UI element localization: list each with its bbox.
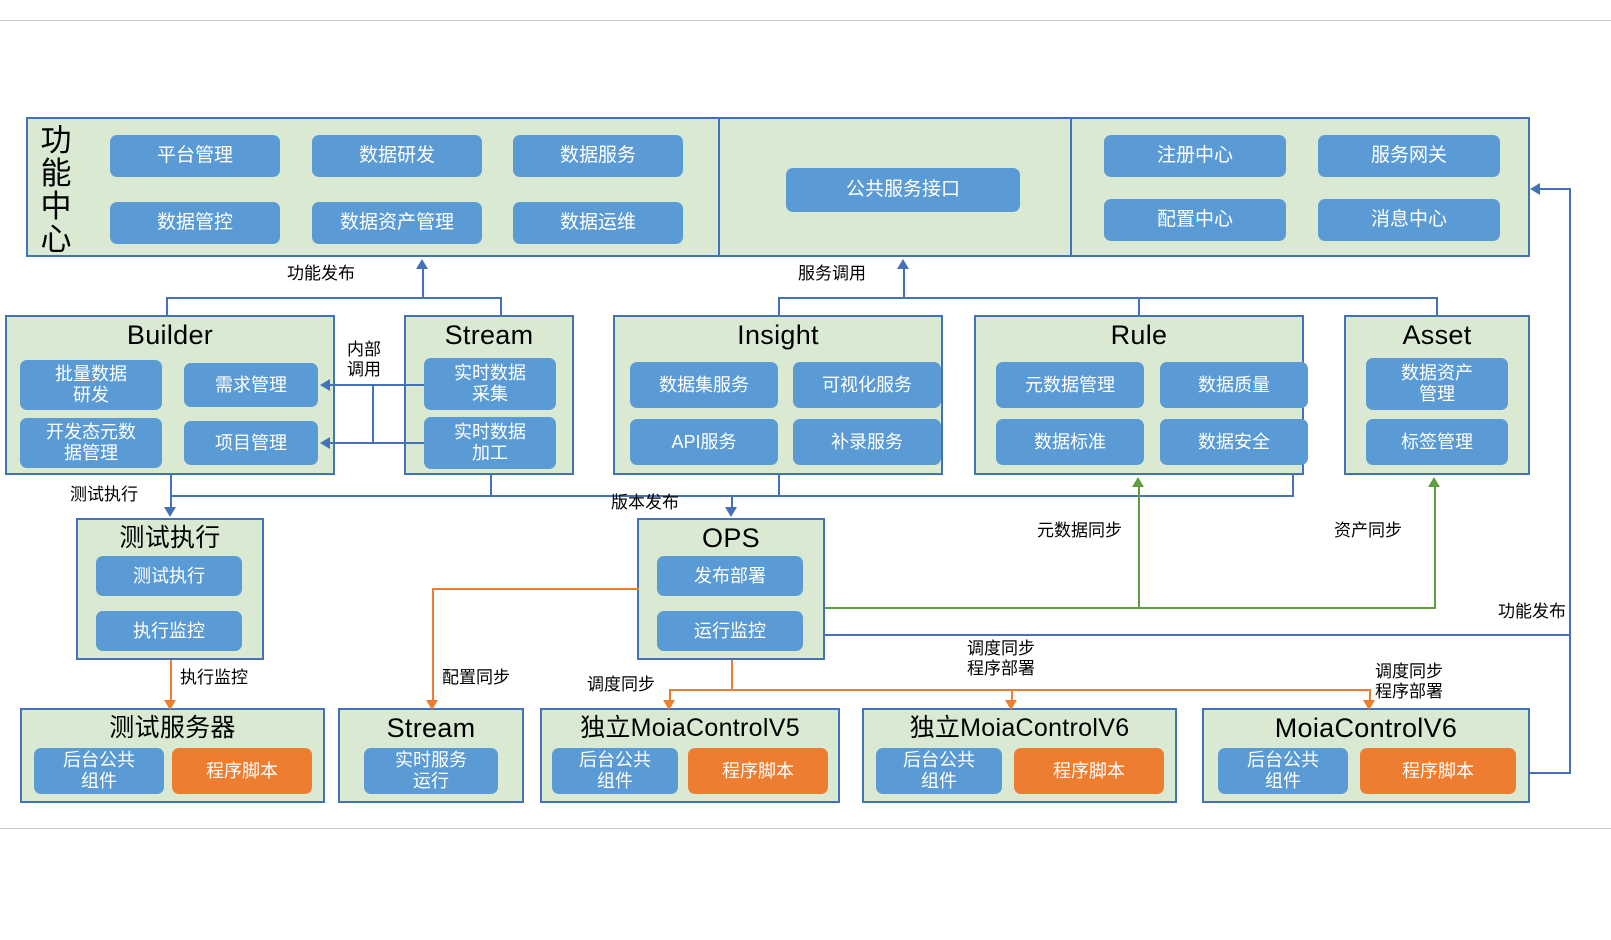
riser-rule [1138,297,1140,315]
drop-rule [1292,475,1294,495]
riser-insight [778,297,780,315]
chip-backend-common-component-3[interactable]: 后台公共 组件 [876,748,1002,794]
internal-call-bottom [330,442,424,444]
group-title-standalone-moiacontrolv6: 独立MoiaControlV6 [864,713,1175,743]
internal-call-from-stream [372,384,424,386]
right-loop-lower-riser [1569,634,1571,772]
chip-tag-management[interactable]: 标签管理 [1366,419,1508,465]
label-schedule-sync: 调度同步 [587,675,655,695]
drop-builder [170,475,172,495]
right-loop-riser [1569,188,1571,634]
orange-ops-drop [731,660,733,689]
label-asset-sync: 资产同步 [1334,521,1402,541]
label-service-call: 服务调用 [798,264,866,284]
chip-runtime-monitor[interactable]: 运行监控 [657,611,803,651]
right-loop-lower-tap [1530,772,1571,774]
orange-config-bus [432,588,639,590]
chip-dataset-service[interactable]: 数据集服务 [630,362,778,408]
orange-config-riser [432,588,434,702]
label-exec-monitor: 执行监控 [180,668,248,688]
arrow-schedule-deploy-v6 [1005,700,1017,710]
chip-program-script-0[interactable]: 程序脚本 [172,748,312,794]
page-rule-bottom [0,828,1611,829]
chip-data-governance[interactable]: 数据管控 [110,202,280,244]
chip-realtime-data-process[interactable]: 实时数据 加工 [424,417,556,469]
chip-dev-metadata-management[interactable]: 开发态元数 据管理 [20,418,162,468]
chip-message-center[interactable]: 消息中心 [1318,199,1500,241]
orange-deploy-bus [669,689,1369,691]
chip-data-standard[interactable]: 数据标准 [996,419,1144,465]
arrow-to-test-execution [164,507,176,517]
chip-backend-common-component-0[interactable]: 后台公共 组件 [34,748,164,794]
right-loop-into-panel [1540,188,1571,190]
label-function-publish-right: 功能发布 [1448,602,1566,622]
chip-platform-management[interactable]: 平台管理 [110,135,280,177]
chip-visualization-service[interactable]: 可视化服务 [793,362,941,408]
orange-test-server-line [170,660,172,702]
function-center-vertical-label: 功 能 中 心 [36,124,76,256]
chip-config-center[interactable]: 配置中心 [1104,199,1286,241]
drop-insight [778,475,780,495]
arrow-internal-call-bottom [320,437,330,449]
arrow-asset-sync [1428,477,1440,487]
chip-execution-monitor[interactable]: 执行监控 [96,611,242,651]
bus-function-publish [166,297,502,299]
chip-data-asset-mgmt[interactable]: 数据资产 管理 [1366,358,1508,410]
arrow-exec-monitor [164,700,176,710]
bus-service-call [778,297,1438,299]
architecture-diagram: 功 能 中 心 平台管理 数据研发 数据服务 数据管控 数据资产管理 数据运维 … [0,0,1611,940]
chip-data-security[interactable]: 数据安全 [1160,419,1308,465]
function-center-divider-1 [718,119,720,255]
group-title-stream: Stream [406,320,572,350]
group-title-asset: Asset [1346,320,1528,350]
stem-service-call [903,268,905,298]
label-internal-call: 内部 调用 [341,340,387,380]
label-version-publish: 版本发布 [611,493,679,513]
drop-stream [490,475,492,495]
function-center-divider-2 [1070,119,1072,255]
group-title-stream-server: Stream [340,713,522,743]
label-schedule-deploy-mid: 调度同步 程序部署 [967,639,1035,679]
riser-asset [1436,297,1438,315]
chip-backend-common-component-2[interactable]: 后台公共 组件 [552,748,678,794]
stem-function-publish [422,268,424,298]
chip-program-script-2[interactable]: 程序脚本 [688,748,828,794]
chip-program-script-4[interactable]: 程序脚本 [1360,748,1516,794]
page-rule-top [0,20,1611,21]
chip-metadata-management[interactable]: 元数据管理 [996,362,1144,408]
chip-test-execute[interactable]: 测试执行 [96,556,242,596]
arrow-service-call [897,259,909,269]
chip-backend-common-component-4[interactable]: 后台公共 组件 [1218,748,1348,794]
chip-project-management[interactable]: 项目管理 [184,421,318,465]
group-title-builder: Builder [7,320,333,350]
label-metadata-sync: 元数据同步 [1037,521,1122,541]
arrow-function-publish [416,259,428,269]
chip-public-service-interface[interactable]: 公共服务接口 [786,168,1020,212]
arrow-metadata-sync [1132,477,1144,487]
arrow-internal-call-top [320,379,330,391]
chip-batch-data-dev[interactable]: 批量数据 研发 [20,360,162,410]
group-title-insight: Insight [615,320,941,350]
group-title-test-server: 测试服务器 [22,713,323,743]
chip-data-development[interactable]: 数据研发 [312,135,482,177]
arrow-right-loop [1530,183,1540,195]
chip-service-gateway[interactable]: 服务网关 [1318,135,1500,177]
arrow-schedule-deploy-right [1363,700,1375,710]
arrow-config-sync [426,700,438,710]
chip-data-service[interactable]: 数据服务 [513,135,683,177]
group-title-test-execution: 测试执行 [78,523,262,553]
chip-data-ops[interactable]: 数据运维 [513,202,683,244]
internal-call-riser [372,384,374,443]
label-test-execute: 测试执行 [70,485,138,505]
green-riser-asset [1434,487,1436,609]
group-title-rule: Rule [976,320,1302,350]
green-bus [825,607,1436,609]
label-function-publish-top: 功能发布 [287,264,355,284]
riser-builder [166,297,168,315]
group-title-standalone-moiacontrolv5: 独立MoiaControlV5 [542,713,838,743]
internal-call-top [330,384,374,386]
label-schedule-deploy-right: 调度同步 程序部署 [1375,662,1443,702]
arrow-schedule-sync-v5 [663,700,675,710]
chip-registry-center[interactable]: 注册中心 [1104,135,1286,177]
chip-requirement-management[interactable]: 需求管理 [184,363,318,407]
chip-publish-deploy[interactable]: 发布部署 [657,556,803,596]
chip-data-asset-management[interactable]: 数据资产管理 [312,202,482,244]
chip-api-service[interactable]: API服务 [630,419,778,465]
group-title-moiacontrolv6: MoiaControlV6 [1204,713,1528,743]
chip-realtime-service-run[interactable]: 实时服务 运行 [364,748,498,794]
right-loop-from-ops [825,634,1571,636]
label-config-sync: 配置同步 [442,668,510,688]
chip-data-quality[interactable]: 数据质量 [1160,362,1308,408]
group-title-ops: OPS [639,523,823,553]
riser-stream [500,297,502,315]
chip-realtime-data-collect[interactable]: 实时数据 采集 [424,358,556,410]
chip-backfill-service[interactable]: 补录服务 [793,419,941,465]
arrow-to-ops [725,507,737,517]
green-riser-rule [1138,487,1140,609]
chip-program-script-3[interactable]: 程序脚本 [1014,748,1164,794]
